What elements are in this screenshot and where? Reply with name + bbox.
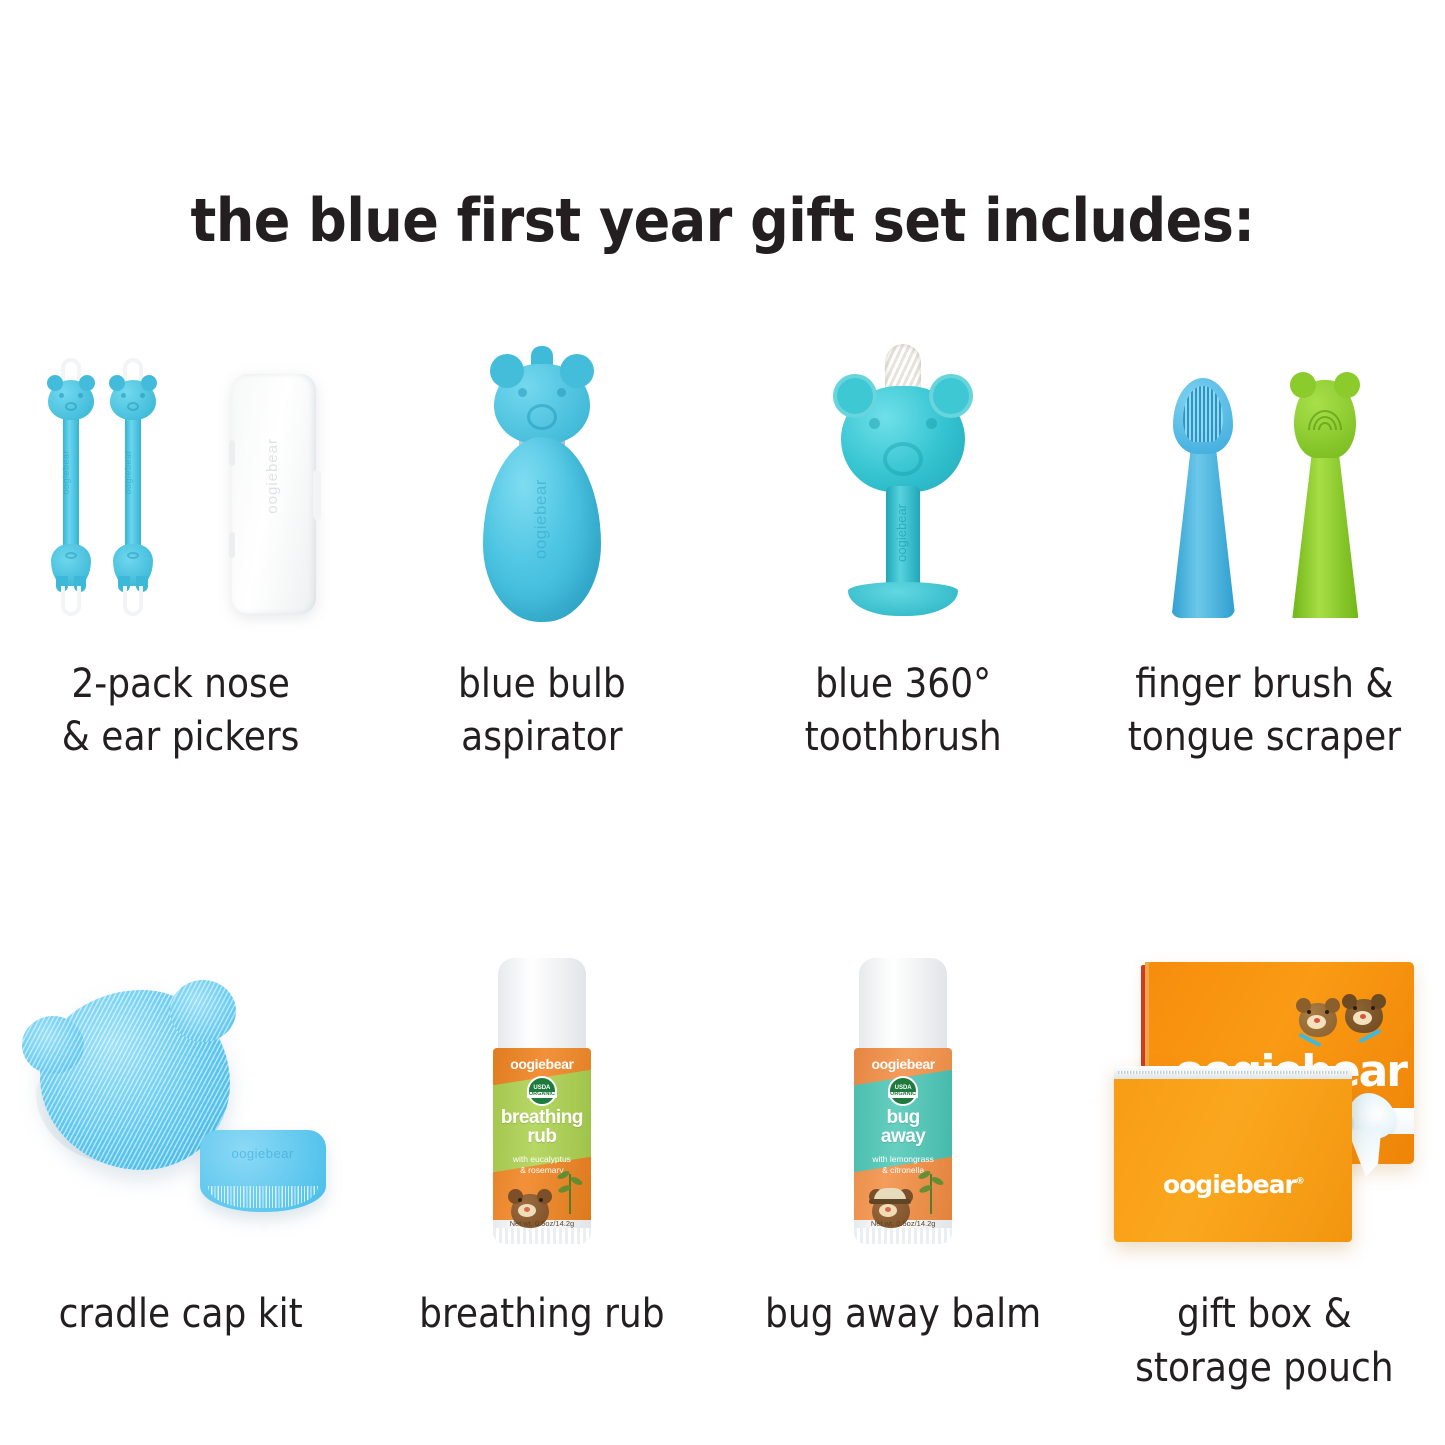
case-hinge-icon (229, 440, 235, 466)
product-label-bug-away-balm: bug away balm (765, 1288, 1041, 1341)
bear-eye-left-icon (1353, 1006, 1357, 1010)
bear-eye-right-icon (1371, 1006, 1375, 1010)
pouch-brand-text: oogiebear (1163, 1170, 1296, 1199)
pouch-brand-logo: oogiebear® (1163, 1170, 1304, 1199)
picker-embossed-brand: oogiebear (61, 450, 81, 495)
picker-embossed-brand: oogiebear (123, 450, 143, 495)
bear-eye-right-icon (539, 1198, 543, 1202)
bear-muzzle-icon (65, 402, 77, 411)
bear-eye-right-icon (926, 418, 937, 429)
cradle-cap-group: oogiebear (36, 976, 326, 1226)
stick-net-weight: Net wt. 0.5oz/14.2g (493, 1219, 591, 1228)
product-cell-gift-box-storage-pouch: oogiebear oogie (1084, 952, 1445, 1394)
comb-embossed-brand: oogiebear (231, 1146, 293, 1161)
registered-mark: ® (1296, 1177, 1304, 1187)
stick-brand-logo: oogiebear (493, 1056, 591, 1072)
bear-eye-left-icon (518, 1198, 522, 1202)
product-cell-360-toothbrush: oogiebear blue 360° toothbrush (723, 330, 1084, 764)
finger-set-group (1149, 358, 1379, 618)
product-label-cradle-cap-kit: cradle cap kit (59, 1288, 303, 1341)
sprig-leaf (930, 1176, 944, 1187)
stick-brand-logo: oogiebear (854, 1056, 952, 1072)
breathing-rub-stick: oogiebear USDA ORGANIC breathing rub wit… (486, 958, 598, 1244)
white-storage-case: oogiebear (232, 374, 316, 614)
bear-eye-left-icon (869, 418, 880, 429)
aspirator-bulb: oogiebear (483, 437, 601, 622)
usda-seal-top: USDA (533, 1085, 550, 1091)
bear-eye-right-icon (557, 388, 566, 397)
product-label-nose-ear-pickers: 2-pack nose & ear pickers (62, 658, 300, 764)
product-cell-breathing-rub: oogiebear USDA ORGANIC breathing rub wit… (361, 952, 722, 1394)
herb-sprig-icon (557, 1164, 583, 1214)
aspirator-embossed-brand: oogiebear (531, 479, 553, 559)
usda-seal-bottom: ORGANIC (527, 1092, 557, 1098)
case-embossed-brand: oogiebear (264, 438, 286, 514)
scoop-detail-icon (65, 552, 77, 559)
product-infographic: the blue first year gift set includes: (0, 0, 1445, 1445)
bear-muzzle-icon (527, 404, 557, 430)
sprig-leaf (569, 1176, 583, 1187)
pickers-group: oogiebear (46, 350, 316, 620)
nose-ear-pickers-image: oogiebear (0, 330, 361, 630)
bear-eye-left-icon (121, 393, 126, 398)
bear-face-icon (863, 412, 943, 484)
bear-head-icon (110, 380, 156, 420)
comb-teeth-icon (208, 1186, 318, 1208)
product-cell-cradle-cap-kit: oogiebear cradle cap kit (0, 952, 361, 1394)
stick-body: oogiebear USDA ORGANIC bug away with lem… (854, 1048, 952, 1244)
finger-brush-body (1171, 450, 1235, 618)
stick-body: oogiebear USDA ORGANIC breathing rub wit… (493, 1048, 591, 1244)
bear-face-icon (119, 391, 147, 415)
finger-brush-tongue-scraper-image (1084, 330, 1445, 630)
tongue-scraper-body (1292, 450, 1358, 618)
bear-face-icon (57, 391, 85, 415)
product-cell-nose-ear-pickers: oogiebear (0, 330, 361, 764)
picker-scoop-icon (51, 544, 91, 586)
bear-eye-left-icon (1307, 1010, 1311, 1014)
stick-product-name: breathing rub (493, 1108, 591, 1146)
product-label-360-toothbrush: blue 360° toothbrush (805, 658, 1002, 764)
picker-scoop-icon (113, 544, 153, 586)
tongue-scraper-ridges-icon (1305, 396, 1345, 430)
bug-away-stick: oogiebear USDA ORGANIC bug away with lem… (847, 958, 959, 1244)
nose-ear-picker-1: oogiebear (48, 358, 94, 616)
bear-hat-icon (874, 1188, 906, 1202)
product-label-gift-box-storage-pouch: gift box & storage pouch (1135, 1288, 1393, 1394)
orange-storage-pouch: oogiebear® (1114, 1066, 1352, 1242)
bear-eye-left-icon (59, 393, 64, 398)
tongue-scraper (1279, 378, 1371, 618)
bear-nose-icon (1314, 1018, 1320, 1023)
cradle-cap-kit-image: oogiebear (0, 952, 361, 1252)
bear-head-icon (841, 386, 965, 492)
product-label-breathing-rub: breathing rub (419, 1288, 664, 1341)
bear-eye-left-icon (518, 388, 527, 397)
cradle-cap-comb: oogiebear (200, 1130, 326, 1212)
stick-product-name: bug away (854, 1108, 952, 1146)
finger-brush (1157, 378, 1249, 618)
stick-cap (859, 958, 947, 1054)
page-title: the blue first year gift set includes: (0, 186, 1445, 256)
toothbrush-image: oogiebear (723, 330, 1084, 630)
loop-bottom-icon (123, 586, 143, 616)
bear-muzzle-icon (883, 442, 923, 476)
product-row-1: oogiebear (0, 330, 1445, 764)
gift-set-group: oogiebear oogie (1114, 962, 1414, 1242)
stick-cap (498, 958, 586, 1054)
product-cell-bug-away-balm: oogiebear USDA ORGANIC bug away with lem… (723, 952, 1084, 1394)
scoop-detail-icon (127, 552, 139, 559)
aspirator-group: oogiebear (467, 342, 617, 622)
toothbrush-handle: oogiebear (886, 486, 920, 594)
breathing-rub-image: oogiebear USDA ORGANIC breathing rub wit… (361, 952, 722, 1252)
product-label-finger-brush-tongue-scraper: finger brush & tongue scraper (1128, 658, 1401, 764)
toothbrush-embossed-brand: oogiebear (894, 504, 912, 562)
product-cell-finger-brush-tongue-scraper: finger brush & tongue scraper (1084, 330, 1445, 764)
herb-sprig-icon (918, 1164, 944, 1214)
bug-away-balm-image: oogiebear USDA ORGANIC bug away with lem… (723, 952, 1084, 1252)
bear-mascots-icon (1296, 994, 1386, 1050)
bear-eye-right-icon (78, 393, 83, 398)
case-hinge-icon (229, 532, 235, 558)
product-row-2: oogiebear cradle cap kit (0, 952, 1445, 1394)
gift-box-storage-pouch-image: oogiebear oogie (1084, 952, 1445, 1252)
usda-organic-seal-icon: USDA ORGANIC (527, 1076, 557, 1106)
loop-bottom-icon (61, 586, 81, 616)
bear-head-icon (494, 364, 590, 444)
bear-head-icon (48, 380, 94, 420)
usda-organic-seal-icon: USDA ORGANIC (888, 1076, 918, 1106)
bear-face-icon (512, 384, 572, 436)
nose-ear-picker-2: oogiebear (110, 358, 156, 616)
bear-mascot-icon (1342, 994, 1386, 1038)
stick-net-weight: Net wt. 0.5oz/14.2g (854, 1219, 952, 1228)
usda-seal-top: USDA (895, 1085, 912, 1091)
bear-nose-icon (1360, 1014, 1366, 1019)
toothbrush-suction-base (848, 582, 958, 616)
bear-muzzle-icon (127, 402, 139, 411)
bulb-aspirator-image: oogiebear (361, 330, 722, 630)
usda-seal-bottom: ORGANIC (888, 1092, 918, 1098)
product-cell-bulb-aspirator: oogiebear blue bulb aspirator (361, 330, 722, 764)
product-label-bulb-aspirator: blue bulb aspirator (458, 658, 626, 764)
bear-nose-icon (885, 1207, 891, 1212)
bear-head-icon (1294, 380, 1356, 458)
bear-eye-right-icon (140, 393, 145, 398)
toothbrush-group: oogiebear (823, 344, 983, 624)
bear-nose-icon (524, 1207, 530, 1212)
pouch-zipper-icon (1114, 1066, 1352, 1079)
bear-mascot-icon (1296, 998, 1340, 1042)
bear-eye-right-icon (1325, 1010, 1329, 1014)
product-grid: oogiebear (0, 330, 1445, 1395)
